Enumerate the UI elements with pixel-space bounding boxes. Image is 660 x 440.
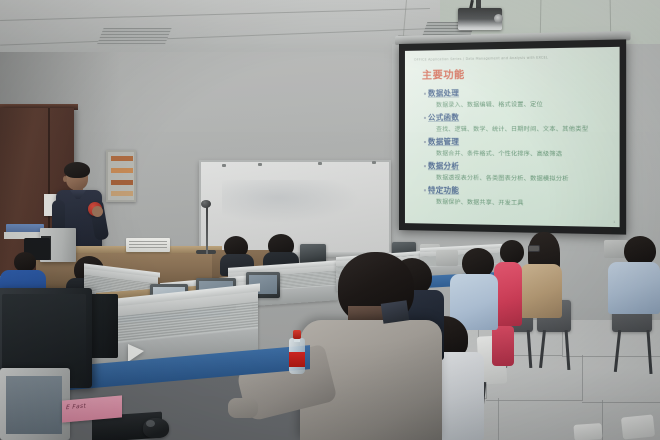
folding-chair [573,423,602,440]
microphone-icon [201,200,211,208]
slide-header-text: OFFICE Application Series / Data Managem… [414,54,613,61]
slide-section-body: 数据录入、数据编辑、格式设置、定位 [436,98,613,109]
slide-section-title: 数据处理 [428,87,459,98]
whiteboard-clip-icon [258,163,262,166]
person-torso [608,262,660,314]
slide-section: 数据分析 数据透视表分析、各类图表分析、数据模拟分析 [414,160,613,183]
slide-section-title: 公式函数 [428,112,459,123]
whiteboard-erased-writing [222,180,362,224]
keyboard-row [129,241,167,242]
monitor-rear [436,250,458,266]
bullet-icon [424,141,426,143]
classroom-photo-scene: OFFICE Application Series / Data Managem… [0,0,660,440]
person-collar [381,300,410,323]
person-torso [520,264,562,318]
person-torso [494,262,522,326]
projection-screen: OFFICE Application Series / Data Managem… [399,39,626,234]
bottle-cap [293,330,301,339]
whiteboard-clip-icon [222,164,226,167]
slide-section-title: 数据分析 [428,160,459,171]
projector-lens-icon [494,14,503,23]
keyboard-icon [126,238,170,252]
person-legs [492,326,514,366]
slide-section: 公式函数 查找、逻辑、数学、统计、日期时间、文本、其他类型 [414,111,613,133]
microphone-stand [206,206,208,254]
panel-stripe [111,168,133,173]
panel-stripe [111,156,133,161]
monitor-screen [6,376,62,434]
presenter-hair [64,162,90,178]
keyboard-row [129,247,167,248]
ceiling-vent-icon [96,28,171,46]
folding-chair [621,414,655,439]
slide-section-body: 查找、逻辑、数学、统计、日期时间、文本、其他类型 [436,123,613,133]
person-hand [228,398,258,418]
whiteboard-clip-icon [372,161,376,164]
presenter-ear [63,176,67,182]
slide-section-body: 数据透视表分析、各类图表分析、数据模拟分析 [436,172,613,183]
panel-stripe [111,191,133,196]
slide-section-body: 数据保护、数据共享、开发工具 [436,196,613,208]
keyboard-row [129,244,167,245]
glasses-icon [528,245,540,252]
slide-section: 数据处理 数据录入、数据编辑、格式设置、定位 [414,86,613,109]
bullet-icon [424,189,426,191]
mouse-highlight [146,420,155,427]
slide-section-body: 数据合并、条件格式、个性化排序、高级筛选 [436,148,613,158]
slide-title: 主要功能 [422,64,613,82]
cola-bottle [289,330,305,374]
slide-section: 特定功能 数据保护、数据共享、开发工具 [414,184,613,208]
slide-section: 数据管理 数据合并、条件格式、个性化排序、高级筛选 [414,136,613,158]
student-head [14,252,36,272]
slide-section-title: 数据管理 [428,136,459,147]
panel-stripe [111,180,133,185]
slide-section-title: 特定功能 [428,184,459,195]
presenter-hand [92,206,103,217]
bullet-icon [424,92,426,94]
wall-framed-panel [106,150,136,202]
bullet-icon [424,116,426,118]
slide-page-number: 1 [613,220,615,224]
whiteboard-clip-icon [318,162,322,165]
bullet-icon [424,165,426,167]
projected-slide: OFFICE Application Series / Data Managem… [405,47,620,227]
bottle-label [289,352,305,367]
person-head [500,240,524,264]
